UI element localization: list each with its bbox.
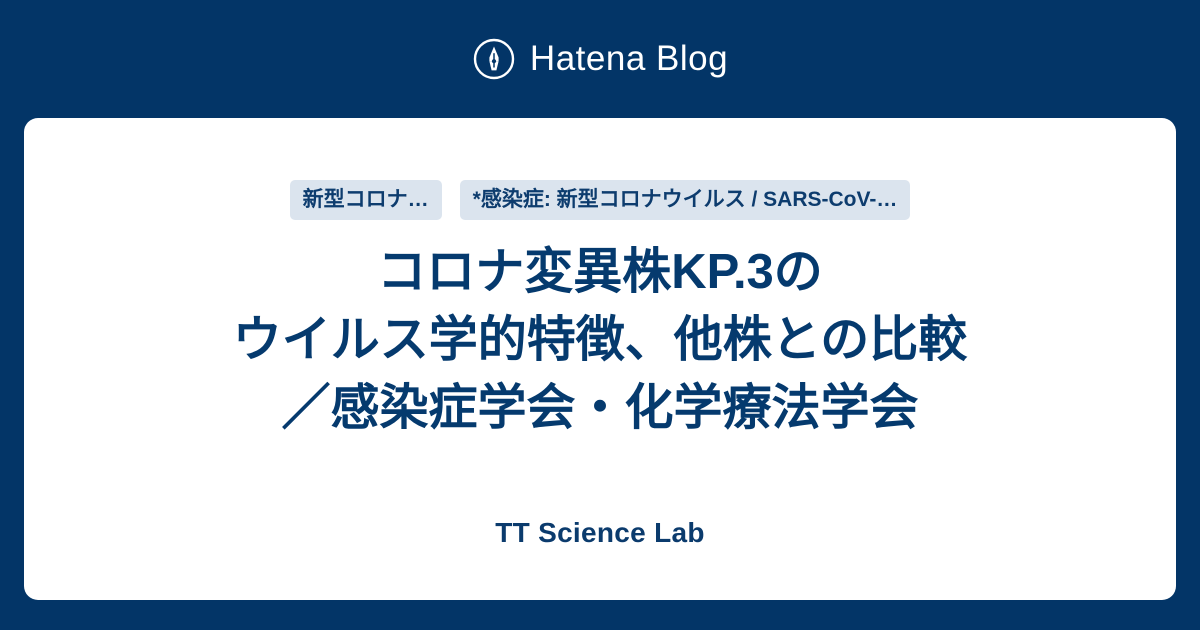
entry-tag[interactable]: 新型コロナ… [290,180,442,220]
brand-header: Hatena Blog [0,0,1200,118]
tag-row: 新型コロナ… *感染症: 新型コロナウイルス / SARS-CoV-… [290,180,911,220]
brand-name: Hatena Blog [530,37,728,81]
entry-title: コロナ変異株KP.3の ウイルス学的特徴、他株との比較 ／感染症学会・化学療法学… [150,238,1050,442]
entry-card: 新型コロナ… *感染症: 新型コロナウイルス / SARS-CoV-… コロナ変… [24,118,1176,600]
entry-title-line: ／感染症学会・化学療法学会 [150,374,1050,442]
entry-title-line: コロナ変異株KP.3の [150,238,1050,306]
entry-tag[interactable]: *感染症: 新型コロナウイルス / SARS-CoV-… [460,180,911,220]
og-image-root: Hatena Blog 新型コロナ… *感染症: 新型コロナウイルス / SAR… [0,0,1200,630]
blog-name: TT Science Lab [24,516,1176,550]
hatena-blog-logo-icon [472,37,516,81]
entry-title-line: ウイルス学的特徴、他株との比較 [150,306,1050,374]
